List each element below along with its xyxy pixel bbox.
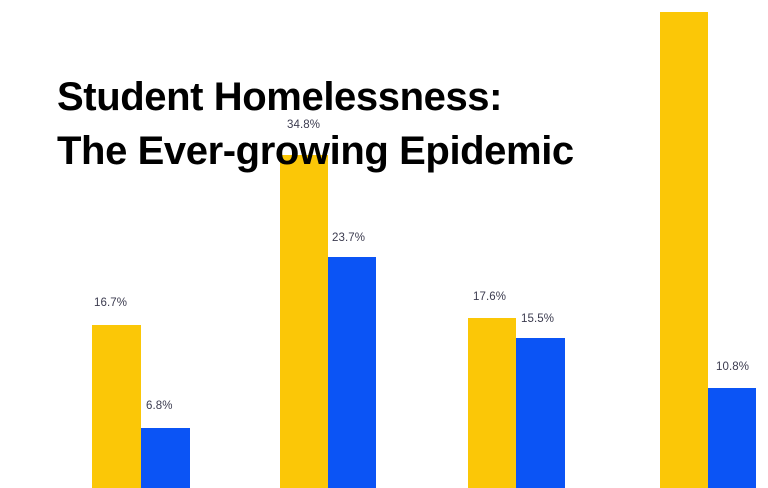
bar-label-group3-blue: 15.5% [521,313,554,326]
bar-label-group3-yellow: 17.6% [473,291,506,304]
bar-label-group2-blue: 23.7% [332,232,365,245]
bar-group1-blue [141,428,190,488]
bar-label-group1-yellow: 16.7% [94,297,127,310]
bar-group2-blue [328,257,376,488]
bar-label-group1-blue: 6.8% [146,400,173,413]
bar-group4-blue [708,388,756,488]
bar-group3-yellow [468,318,516,488]
page-title-line-1: Student Homelessness: [57,70,677,124]
bar-group3-blue [516,338,565,488]
bar-label-group4-blue: 10.8% [716,361,749,374]
page-title-line-2: The Ever-growing Epidemic [57,124,677,178]
bar-group2-yellow [280,155,328,488]
bar-group1-yellow [92,325,141,488]
slide-canvas: 16.7% 6.8% 34.8% 23.7% 17.6% 15.5% 10.8%… [0,0,768,488]
page-title: Student Homelessness: The Ever-growing E… [57,70,677,178]
